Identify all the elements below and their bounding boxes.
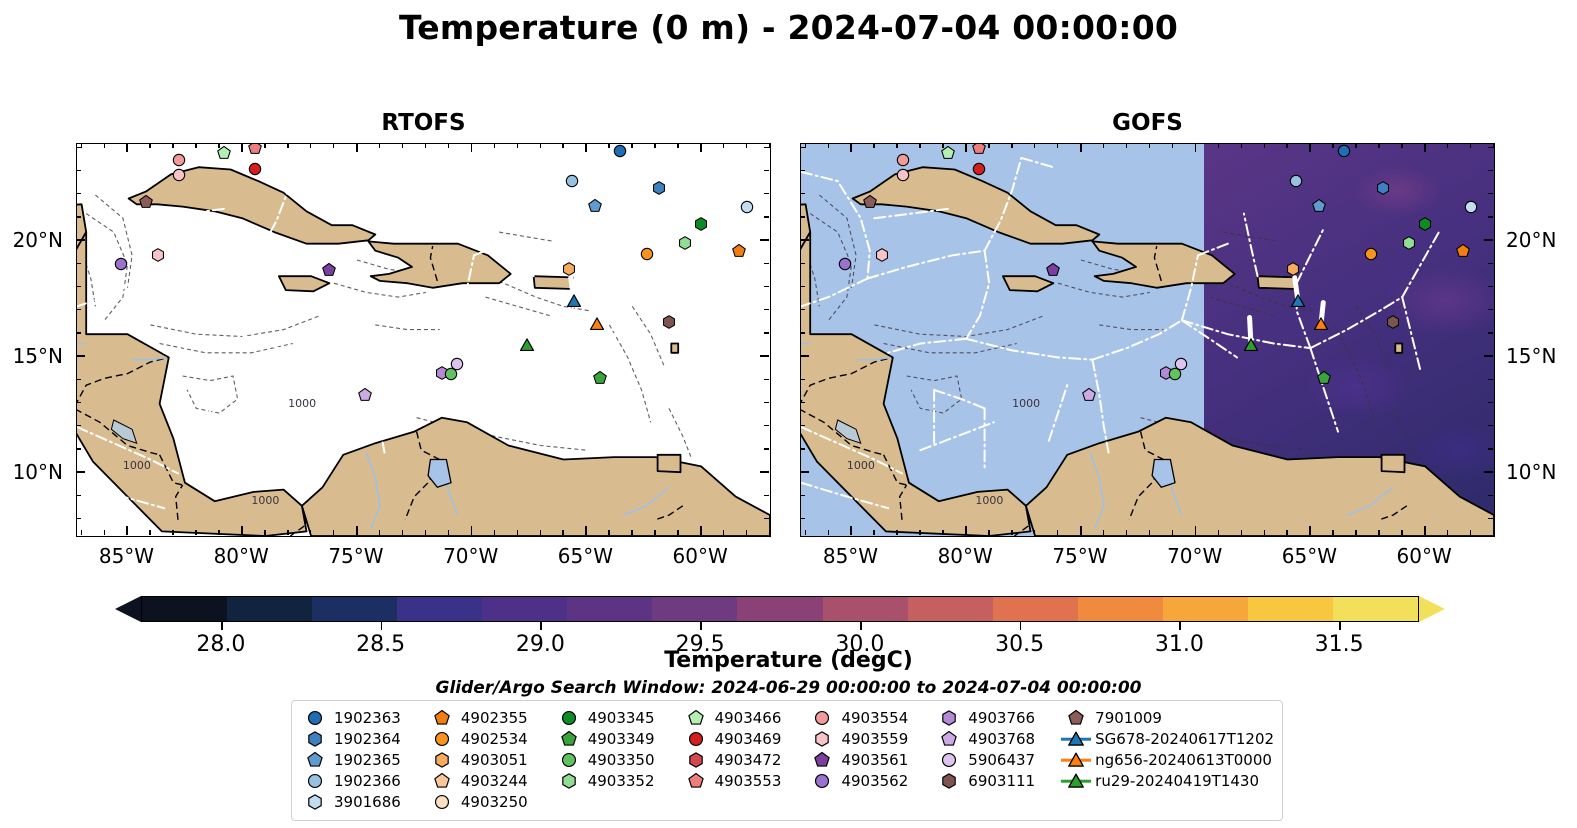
x-axis-minor-tick: [379, 143, 380, 148]
y-axis-minor-tick: [800, 379, 805, 380]
legend-item[interactable]: 7901009: [1061, 708, 1274, 728]
x-axis-minor-tick: [1172, 143, 1173, 148]
colorbar-band-6: [652, 597, 737, 621]
legend-item-label: 5906437: [964, 751, 1035, 769]
legend-item[interactable]: 1902365: [300, 750, 427, 770]
y-axis-tick: [76, 471, 85, 473]
y-axis-tick: [76, 355, 85, 357]
x-axis-minor-tick: [562, 143, 563, 148]
map-marker-4903345[interactable]: [693, 217, 708, 232]
x-axis-tick: [126, 143, 128, 152]
map-marker-4902534[interactable]: [1363, 246, 1378, 261]
x-axis-tick: [1309, 143, 1311, 152]
legend-item-label: 4903350: [584, 751, 655, 769]
x-axis-minor-tick: [402, 530, 403, 535]
y-axis-minor-tick: [800, 448, 805, 449]
y-axis-minor-tick: [800, 309, 805, 310]
legend-item[interactable]: 4902355: [427, 708, 554, 728]
map-marker-1902363[interactable]: [1336, 144, 1351, 159]
map-marker-4903350[interactable]: [444, 367, 459, 382]
legend-item[interactable]: 4903561: [807, 750, 934, 770]
map-marker-4903559[interactable]: [895, 167, 910, 182]
x-axis-minor-tick: [769, 530, 770, 535]
x-axis-tick: [700, 526, 702, 535]
glider-marker-ru29-20240419T1430[interactable]: [1243, 336, 1260, 353]
map-marker-4903051[interactable]: [1286, 261, 1301, 276]
legend-item[interactable]: 6903111: [934, 771, 1061, 791]
map-marker-4903553[interactable]: [972, 143, 987, 155]
y-axis-minor-tick: [76, 216, 81, 217]
y-axis-minor-tick: [800, 495, 805, 496]
map-marker-7901009[interactable]: [863, 195, 878, 210]
panel-title-rtofs: RTOFS: [76, 110, 771, 136]
map-marker-4903554[interactable]: [895, 152, 910, 167]
x-axis-minor-tick: [654, 530, 655, 535]
colorbar-tick: [1339, 622, 1341, 630]
y-axis-minor-tick: [1488, 309, 1493, 310]
x-axis-minor-tick: [1355, 530, 1356, 535]
legend-item[interactable]: 4903352: [554, 771, 681, 791]
x-axis-minor-tick: [562, 530, 563, 535]
x-axis-tick: [471, 143, 473, 152]
colorbar-band-4: [482, 597, 567, 621]
x-axis-minor-tick: [1286, 143, 1287, 148]
map-marker-4903469[interactable]: [972, 161, 987, 176]
y-axis-minor-tick: [764, 216, 769, 217]
map-marker-4903352[interactable]: [1401, 235, 1416, 250]
glider-marker-ru29-20240419T1430[interactable]: [519, 336, 536, 353]
map-geometry-rtofs: [77, 144, 770, 536]
map-marker-4902534[interactable]: [639, 246, 654, 261]
y-axis-minor-tick: [764, 425, 769, 426]
circle-marker-icon: [934, 750, 964, 770]
y-axis-tick: [1484, 355, 1493, 357]
colorbar-tick: [1179, 622, 1181, 630]
y-axis-minor-tick: [764, 332, 769, 333]
y-axis-minor-tick: [76, 425, 81, 426]
x-axis-minor-tick: [1218, 530, 1219, 535]
circle-marker-icon: [554, 750, 584, 770]
x-axis-minor-tick: [172, 143, 173, 148]
map-marker-4902355[interactable]: [731, 243, 746, 258]
legend-item-label: 4903559: [837, 730, 908, 748]
legend-item[interactable]: 3901686: [300, 792, 427, 812]
x-axis-minor-tick: [264, 530, 265, 535]
pentagon-marker-icon: [681, 708, 711, 728]
x-axis-minor-tick: [828, 143, 829, 148]
y-axis-tick: [800, 471, 809, 473]
bathymetry-contour-label: 1000: [847, 459, 875, 472]
pentagon-marker-icon: [934, 729, 964, 749]
x-axis-tick: [585, 526, 587, 535]
x-axis-minor-tick: [287, 143, 288, 148]
y-axis-minor-tick: [76, 193, 81, 194]
y-axis-tick: [1484, 471, 1493, 473]
x-axis-minor-tick: [448, 143, 449, 148]
y-axis-minor-tick: [1488, 170, 1493, 171]
legend-item[interactable]: 4903345: [554, 708, 681, 728]
x-axis-minor-tick: [1286, 530, 1287, 535]
legend-item[interactable]: 1902364: [300, 729, 427, 749]
hexagon-marker-icon: [934, 771, 964, 791]
x-axis-minor-tick: [195, 143, 196, 148]
legend-item[interactable]: 4903472: [681, 750, 808, 770]
x-axis-label: 70°W: [1150, 544, 1240, 568]
y-axis-minor-tick: [76, 263, 81, 264]
legend-item[interactable]: 4903350: [554, 750, 681, 770]
legend-item-label: 4903562: [837, 772, 908, 790]
x-axis-minor-tick: [608, 530, 609, 535]
x-axis-minor-tick: [494, 143, 495, 148]
legend-item-label: 4903244: [457, 772, 528, 790]
x-axis-minor-tick: [104, 530, 105, 535]
legend-search-window: Glider/Argo Search Window: 2024-06-29 00…: [0, 678, 1577, 698]
x-axis-minor-tick: [1470, 143, 1471, 148]
map-panel-rtofs[interactable]: 100010001000: [76, 143, 771, 537]
y-axis-minor-tick: [800, 332, 805, 333]
legend-item[interactable]: 4903559: [807, 729, 934, 749]
x-axis-label: 60°W: [655, 544, 745, 568]
hexagon-marker-icon: [934, 708, 964, 728]
legend-item[interactable]: 4903349: [554, 729, 681, 749]
map-marker-4903051[interactable]: [562, 261, 577, 276]
y-axis-minor-tick: [764, 379, 769, 380]
map-marker-4903554[interactable]: [171, 152, 186, 167]
map-marker-4903349[interactable]: [593, 371, 608, 386]
x-axis-tick: [1424, 143, 1426, 152]
x-axis-minor-tick: [942, 530, 943, 535]
y-axis-minor-tick: [1488, 263, 1493, 264]
legend-item-label: 4902534: [457, 730, 528, 748]
map-marker-4903768[interactable]: [358, 387, 373, 402]
colorbar-tick: [1020, 622, 1022, 630]
legend-item-label: 4903561: [837, 751, 908, 769]
y-axis-tick: [800, 239, 809, 241]
legend-item-label: 4903466: [711, 709, 782, 727]
x-axis-minor-tick: [425, 530, 426, 535]
y-axis-minor-tick: [800, 263, 805, 264]
colorbar-band-0: [142, 597, 227, 621]
colorbar-tick: [700, 622, 702, 630]
legend-column-1: 49023554902534490305149032444903250: [427, 708, 554, 812]
x-axis-minor-tick: [1149, 530, 1150, 535]
x-axis-minor-tick: [1126, 143, 1127, 148]
panel-title-gofs: GOFS: [800, 110, 1495, 136]
x-axis-tick: [585, 143, 587, 152]
y-axis-minor-tick: [764, 263, 769, 264]
legend-item[interactable]: 4903250: [427, 792, 554, 812]
y-axis-minor-tick: [76, 170, 81, 171]
circle-marker-icon: [554, 708, 584, 728]
x-axis-minor-tick: [287, 530, 288, 535]
x-axis-minor-tick: [1332, 143, 1333, 148]
y-axis-label-left: 10°N: [13, 460, 63, 484]
y-axis-label-right: 10°N: [1506, 460, 1556, 484]
x-axis-minor-tick: [218, 143, 219, 148]
map-marker-4903562[interactable]: [113, 256, 128, 271]
y-axis-label-right: 20°N: [1506, 228, 1556, 252]
x-axis-label: 75°W: [1035, 544, 1125, 568]
x-axis-tick: [241, 143, 243, 152]
map-marker-1902365[interactable]: [588, 198, 603, 213]
x-axis-minor-tick: [218, 530, 219, 535]
pentagon-marker-icon: [681, 771, 711, 791]
circle-marker-icon: [300, 771, 330, 791]
legend-item[interactable]: 4903553: [681, 771, 808, 791]
map-marker-4902355[interactable]: [1455, 243, 1470, 258]
x-axis-minor-tick: [723, 530, 724, 535]
x-axis-tick: [1195, 526, 1197, 535]
y-axis-minor-tick: [764, 170, 769, 171]
y-axis-minor-tick: [800, 147, 805, 148]
legend-item[interactable]: 1902363: [300, 708, 427, 728]
legend-item[interactable]: 4903469: [681, 729, 808, 749]
bathymetry-contour-label: 1000: [288, 397, 316, 410]
legend-item-label: 3901686: [330, 793, 401, 811]
x-axis-minor-tick: [896, 143, 897, 148]
x-axis-minor-tick: [1493, 143, 1494, 148]
x-axis-label: 80°W: [920, 544, 1010, 568]
y-axis-minor-tick: [800, 518, 805, 519]
y-axis-minor-tick: [76, 379, 81, 380]
y-axis-minor-tick: [1488, 518, 1493, 519]
x-axis-minor-tick: [677, 143, 678, 148]
x-axis-minor-tick: [1447, 530, 1448, 535]
x-axis-minor-tick: [310, 143, 311, 148]
map-marker-1902364[interactable]: [652, 180, 667, 195]
glider-track-marker-icon: [1061, 750, 1091, 770]
x-axis-minor-tick: [1034, 530, 1035, 535]
y-axis-minor-tick: [1488, 216, 1493, 217]
x-axis-minor-tick: [149, 530, 150, 535]
legend-item[interactable]: SG678-20240617T1202: [1061, 729, 1274, 749]
circle-marker-icon: [427, 729, 457, 749]
legend-item[interactable]: 4903768: [934, 729, 1061, 749]
x-axis-minor-tick: [1264, 530, 1265, 535]
y-axis-minor-tick: [1488, 147, 1493, 148]
map-marker-6903111[interactable]: [661, 315, 676, 330]
y-axis-label-left: 20°N: [13, 228, 63, 252]
pentagon-marker-icon: [807, 750, 837, 770]
x-axis-minor-tick: [264, 143, 265, 148]
y-axis-minor-tick: [764, 402, 769, 403]
map-marker-6903111[interactable]: [1385, 315, 1400, 330]
colorbar: 28.028.529.029.530.030.531.031.5: [115, 596, 1445, 622]
x-axis-minor-tick: [828, 530, 829, 535]
map-marker-4903553[interactable]: [248, 143, 263, 155]
map-marker-1902366[interactable]: [1289, 174, 1304, 189]
x-axis-tick: [356, 143, 358, 152]
y-axis-minor-tick: [1488, 495, 1493, 496]
figure-title: Temperature (0 m) - 2024-07-04 00:00:00: [0, 8, 1577, 47]
map-marker-1902364[interactable]: [1376, 180, 1391, 195]
x-axis-minor-tick: [540, 530, 541, 535]
hexagon-marker-icon: [300, 729, 330, 749]
legend-item[interactable]: 4903554: [807, 708, 934, 728]
x-axis-tick: [1080, 143, 1082, 152]
x-axis-label: 60°W: [1379, 544, 1469, 568]
x-axis-minor-tick: [1149, 143, 1150, 148]
colorbar-band-7: [737, 597, 822, 621]
x-axis-minor-tick: [1355, 143, 1356, 148]
x-axis-tick: [700, 143, 702, 152]
map-marker-3901686[interactable]: [1464, 199, 1479, 214]
legend-item-label: 1902364: [330, 730, 401, 748]
glider-marker-ng656-20240613T0000[interactable]: [1312, 315, 1329, 332]
y-axis-label-left: 15°N: [13, 344, 63, 368]
x-axis-minor-tick: [1470, 530, 1471, 535]
x-axis-minor-tick: [805, 530, 806, 535]
map-marker-4903352[interactable]: [677, 235, 692, 250]
map-geometry-gofs: [801, 144, 1494, 536]
glider-marker-SG678-20240617T1202[interactable]: [565, 292, 582, 309]
legend-item[interactable]: 5906437: [934, 750, 1061, 770]
y-axis-minor-tick: [764, 286, 769, 287]
legend-item-label: 4903472: [711, 751, 782, 769]
x-axis-tick: [356, 526, 358, 535]
map-marker-1902366[interactable]: [565, 174, 580, 189]
glider-marker-ng656-20240613T0000[interactable]: [588, 315, 605, 332]
colorbar-bands: [141, 596, 1419, 622]
y-axis-tick: [760, 355, 769, 357]
x-axis-minor-tick: [608, 143, 609, 148]
x-axis-minor-tick: [310, 530, 311, 535]
x-axis-minor-tick: [149, 143, 150, 148]
pentagon-marker-icon: [1061, 708, 1091, 728]
legend-item[interactable]: 4903562: [807, 771, 934, 791]
legend-item[interactable]: 4903051: [427, 750, 554, 770]
y-axis-minor-tick: [1488, 332, 1493, 333]
y-axis-minor-tick: [1488, 402, 1493, 403]
map-panel-gofs[interactable]: 100010001000: [800, 143, 1495, 537]
y-axis-tick: [1484, 239, 1493, 241]
map-marker-4903561[interactable]: [1045, 263, 1060, 278]
x-axis-label: 65°W: [1264, 544, 1354, 568]
hexagon-marker-icon: [300, 792, 330, 812]
map-marker-4903768[interactable]: [1082, 387, 1097, 402]
x-axis-minor-tick: [631, 143, 632, 148]
x-axis-minor-tick: [677, 530, 678, 535]
legend-item-label: SG678-20240617T1202: [1091, 730, 1274, 748]
x-axis-tick: [1195, 143, 1197, 152]
legend-item-label: 4903349: [584, 730, 655, 748]
legend-item-label: 4903768: [964, 730, 1035, 748]
x-axis-minor-tick: [1218, 143, 1219, 148]
y-axis-minor-tick: [1488, 448, 1493, 449]
legend-column-6: 7901009SG678-20240617T1202ng656-20240613…: [1061, 708, 1274, 812]
colorbar-band-14: [1333, 597, 1418, 621]
map-marker-4903559b[interactable]: [151, 247, 166, 262]
map-marker-4903559b[interactable]: [875, 247, 890, 262]
legend-item-label: ru29-20240419T1430: [1091, 772, 1259, 790]
legend-column-4: 4903554490355949035614903562: [807, 708, 934, 812]
bathymetry-contour-label: 1000: [1012, 397, 1040, 410]
y-axis-minor-tick: [800, 286, 805, 287]
x-axis-minor-tick: [988, 530, 989, 535]
colorbar-label: Temperature (degC): [0, 648, 1577, 673]
x-axis-tick: [850, 143, 852, 152]
y-axis-minor-tick: [764, 518, 769, 519]
pentagon-marker-icon: [300, 750, 330, 770]
x-axis-minor-tick: [517, 530, 518, 535]
y-axis-minor-tick: [764, 147, 769, 148]
map-marker-4903349[interactable]: [1317, 371, 1332, 386]
x-axis-minor-tick: [896, 530, 897, 535]
y-axis-minor-tick: [764, 309, 769, 310]
x-axis-tick: [1080, 526, 1082, 535]
y-axis-minor-tick: [764, 495, 769, 496]
glider-marker-SG678-20240617T1202[interactable]: [1289, 292, 1306, 309]
map-marker-4903561[interactable]: [321, 263, 336, 278]
y-axis-label-right: 15°N: [1506, 344, 1556, 368]
x-axis-minor-tick: [1241, 530, 1242, 535]
y-axis-minor-tick: [800, 425, 805, 426]
legend-item[interactable]: 4902534: [427, 729, 554, 749]
x-axis-minor-tick: [1332, 530, 1333, 535]
map-marker-7901009[interactable]: [139, 195, 154, 210]
x-axis-tick: [1309, 526, 1311, 535]
legend-item[interactable]: ng656-20240613T0000: [1061, 750, 1274, 770]
x-axis-label: 65°W: [540, 544, 630, 568]
colorbar-band-2: [312, 597, 397, 621]
legend-item-label: 4903553: [711, 772, 782, 790]
y-axis-minor-tick: [76, 309, 81, 310]
legend-box[interactable]: 1902363190236419023651902366390168649023…: [291, 700, 1283, 821]
x-axis-minor-tick: [723, 143, 724, 148]
x-axis-minor-tick: [919, 143, 920, 148]
pentagon-marker-icon: [554, 729, 584, 749]
map-marker-4903562[interactable]: [837, 256, 852, 271]
legend-column-5: 4903766490376859064376903111: [934, 708, 1061, 812]
map-marker-4903345[interactable]: [1417, 217, 1432, 232]
x-axis-minor-tick: [1057, 530, 1058, 535]
legend-item[interactable]: 4903244: [427, 771, 554, 791]
colorbar-band-11: [1078, 597, 1163, 621]
legend-item-label: 1902363: [330, 709, 401, 727]
y-axis-minor-tick: [800, 402, 805, 403]
legend-item-label: 4903250: [457, 793, 528, 811]
x-axis-minor-tick: [1378, 143, 1379, 148]
map-marker-1902365[interactable]: [1312, 198, 1327, 213]
x-axis-minor-tick: [1011, 530, 1012, 535]
x-axis-minor-tick: [425, 143, 426, 148]
x-axis-minor-tick: [104, 143, 105, 148]
legend-column-2: 4903345490334949033504903352: [554, 708, 681, 812]
pentagon-marker-icon: [427, 708, 457, 728]
x-axis-minor-tick: [654, 143, 655, 148]
legend-item-label: 4903051: [457, 751, 528, 769]
legend-item[interactable]: 1902366: [300, 771, 427, 791]
map-marker-4903469[interactable]: [248, 161, 263, 176]
legend-item[interactable]: 4903466: [681, 708, 808, 728]
map-marker-1902363[interactable]: [612, 144, 627, 159]
legend-item-label: 4903345: [584, 709, 655, 727]
x-axis-minor-tick: [769, 143, 770, 148]
x-axis-tick: [471, 526, 473, 535]
map-marker-4903559[interactable]: [171, 167, 186, 182]
legend-item[interactable]: 4903766: [934, 708, 1061, 728]
legend-item[interactable]: ru29-20240419T1430: [1061, 771, 1274, 791]
circle-marker-icon: [807, 771, 837, 791]
legend-column-3: 4903466490346949034724903553: [681, 708, 808, 812]
map-marker-4903350[interactable]: [1168, 367, 1183, 382]
map-marker-3901686[interactable]: [740, 199, 755, 214]
x-axis-minor-tick: [631, 530, 632, 535]
x-axis-label: 70°W: [426, 544, 516, 568]
x-axis-minor-tick: [195, 530, 196, 535]
y-axis-minor-tick: [76, 286, 81, 287]
legend-item-label: 1902366: [330, 772, 401, 790]
